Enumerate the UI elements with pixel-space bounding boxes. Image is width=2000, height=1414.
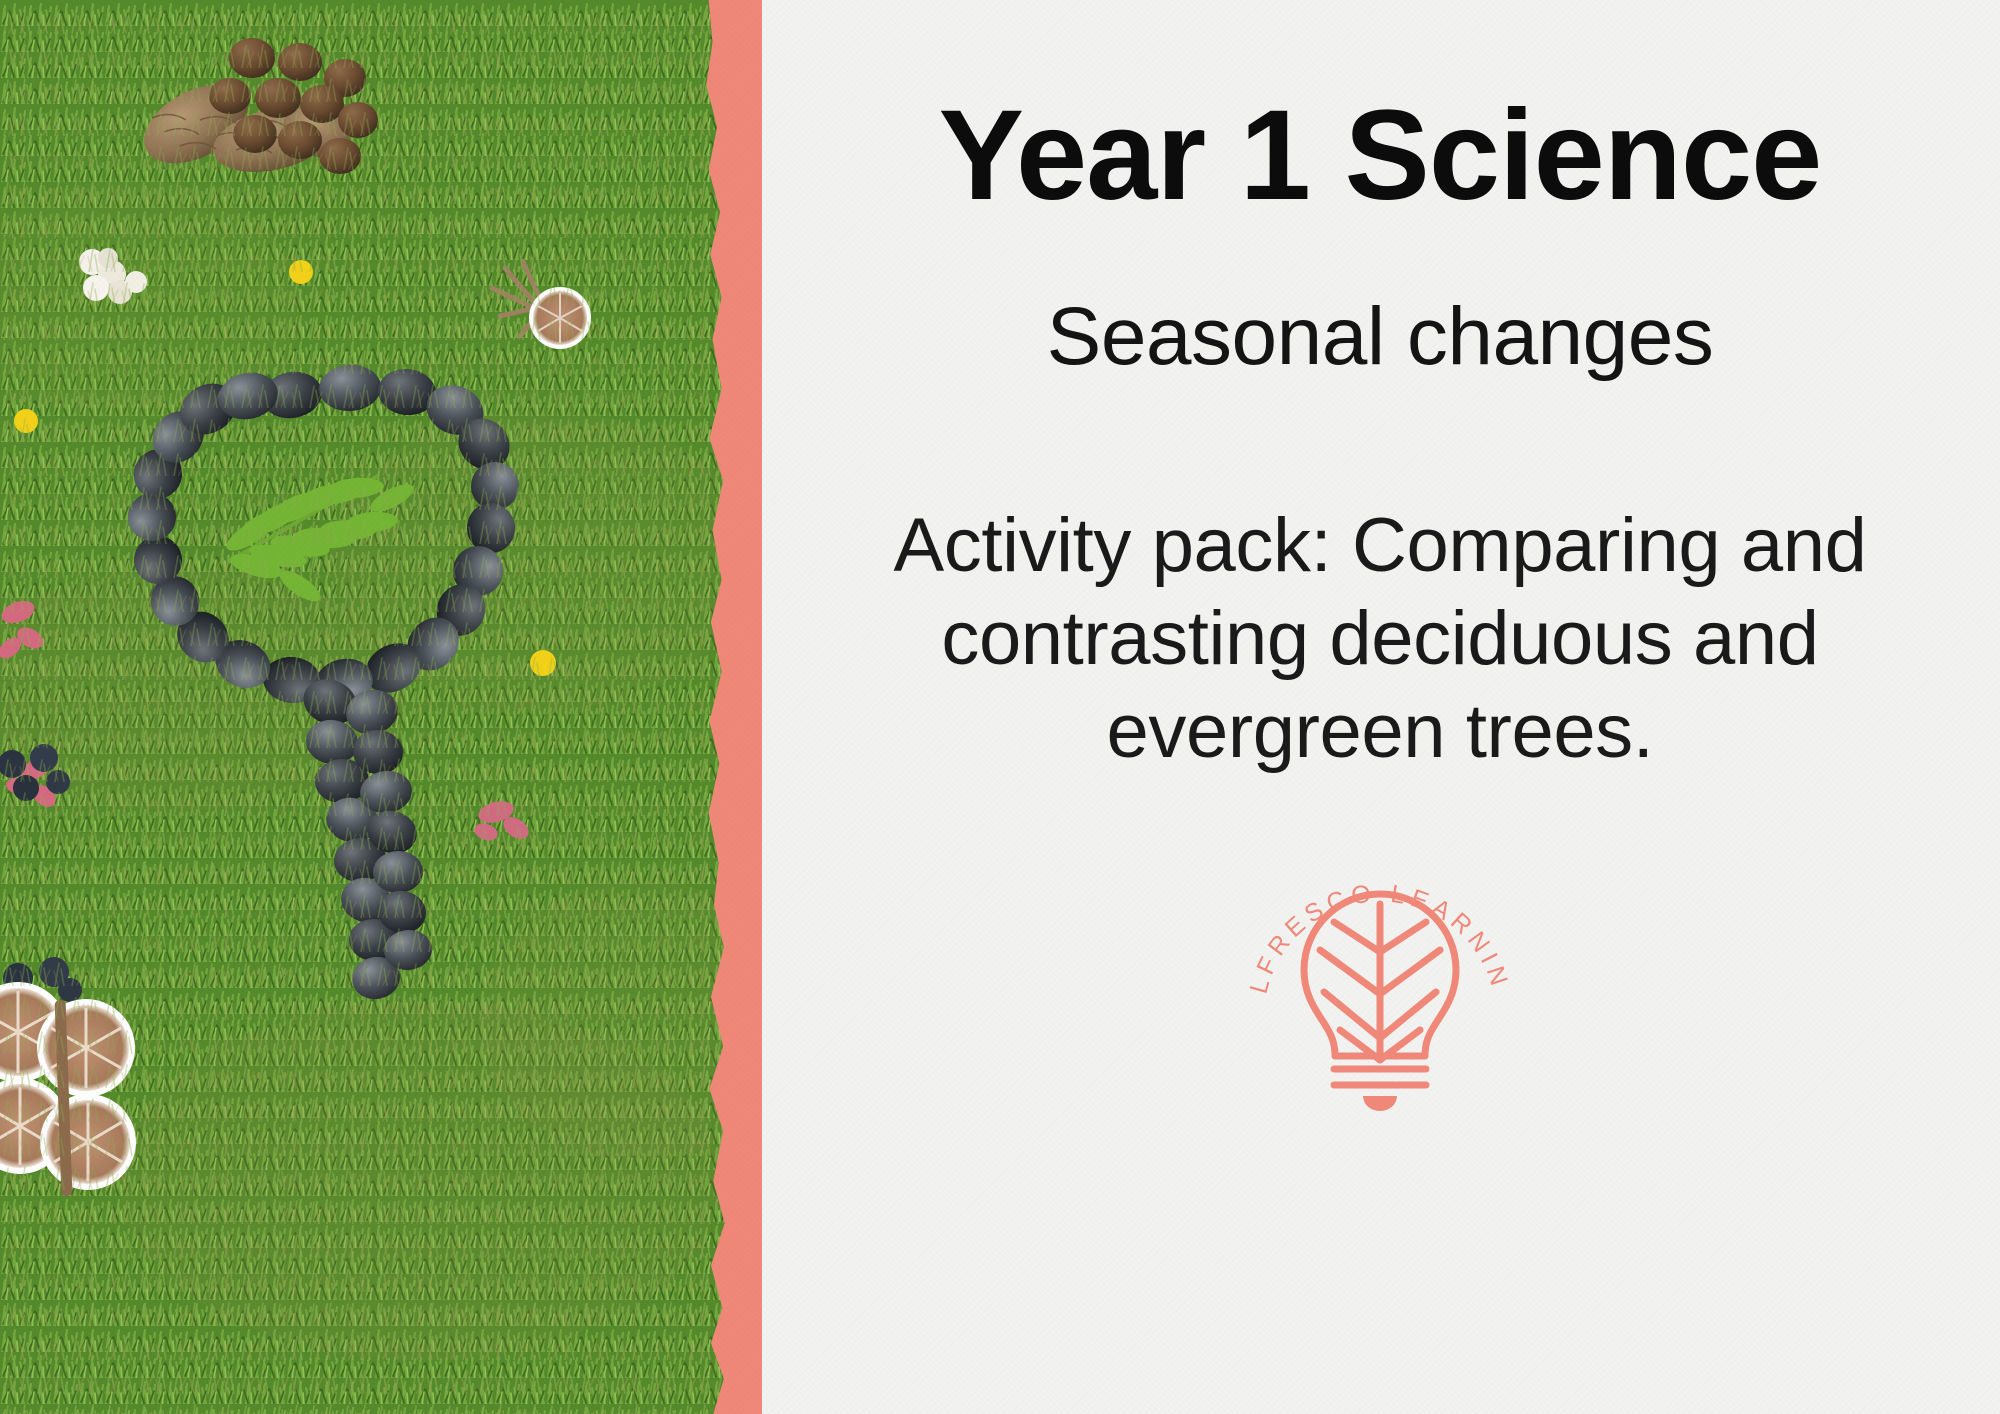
page-subtitle: Seasonal changes xyxy=(760,294,2000,380)
page-title: Year 1 Science xyxy=(760,92,2000,220)
nature-photo xyxy=(0,0,752,1414)
leaf-icon xyxy=(1320,904,1440,1060)
content-column: Year 1 Science Seasonal changes Activity… xyxy=(760,0,2000,1414)
brand-logo: ALFRESCO LEARNING xyxy=(1230,824,1530,1124)
bulb-base-icon xyxy=(1363,1096,1397,1111)
logo-arc-text: ALFRESCO LEARNING xyxy=(1230,824,1515,997)
alfresco-learning-logo-mark: ALFRESCO LEARNING xyxy=(1230,824,1530,1124)
activity-description: Activity pack: Comparing and contrasting… xyxy=(840,500,1920,778)
slide-canvas: Year 1 Science Seasonal changes Activity… xyxy=(0,0,2000,1414)
photo-artwork xyxy=(0,0,752,1414)
